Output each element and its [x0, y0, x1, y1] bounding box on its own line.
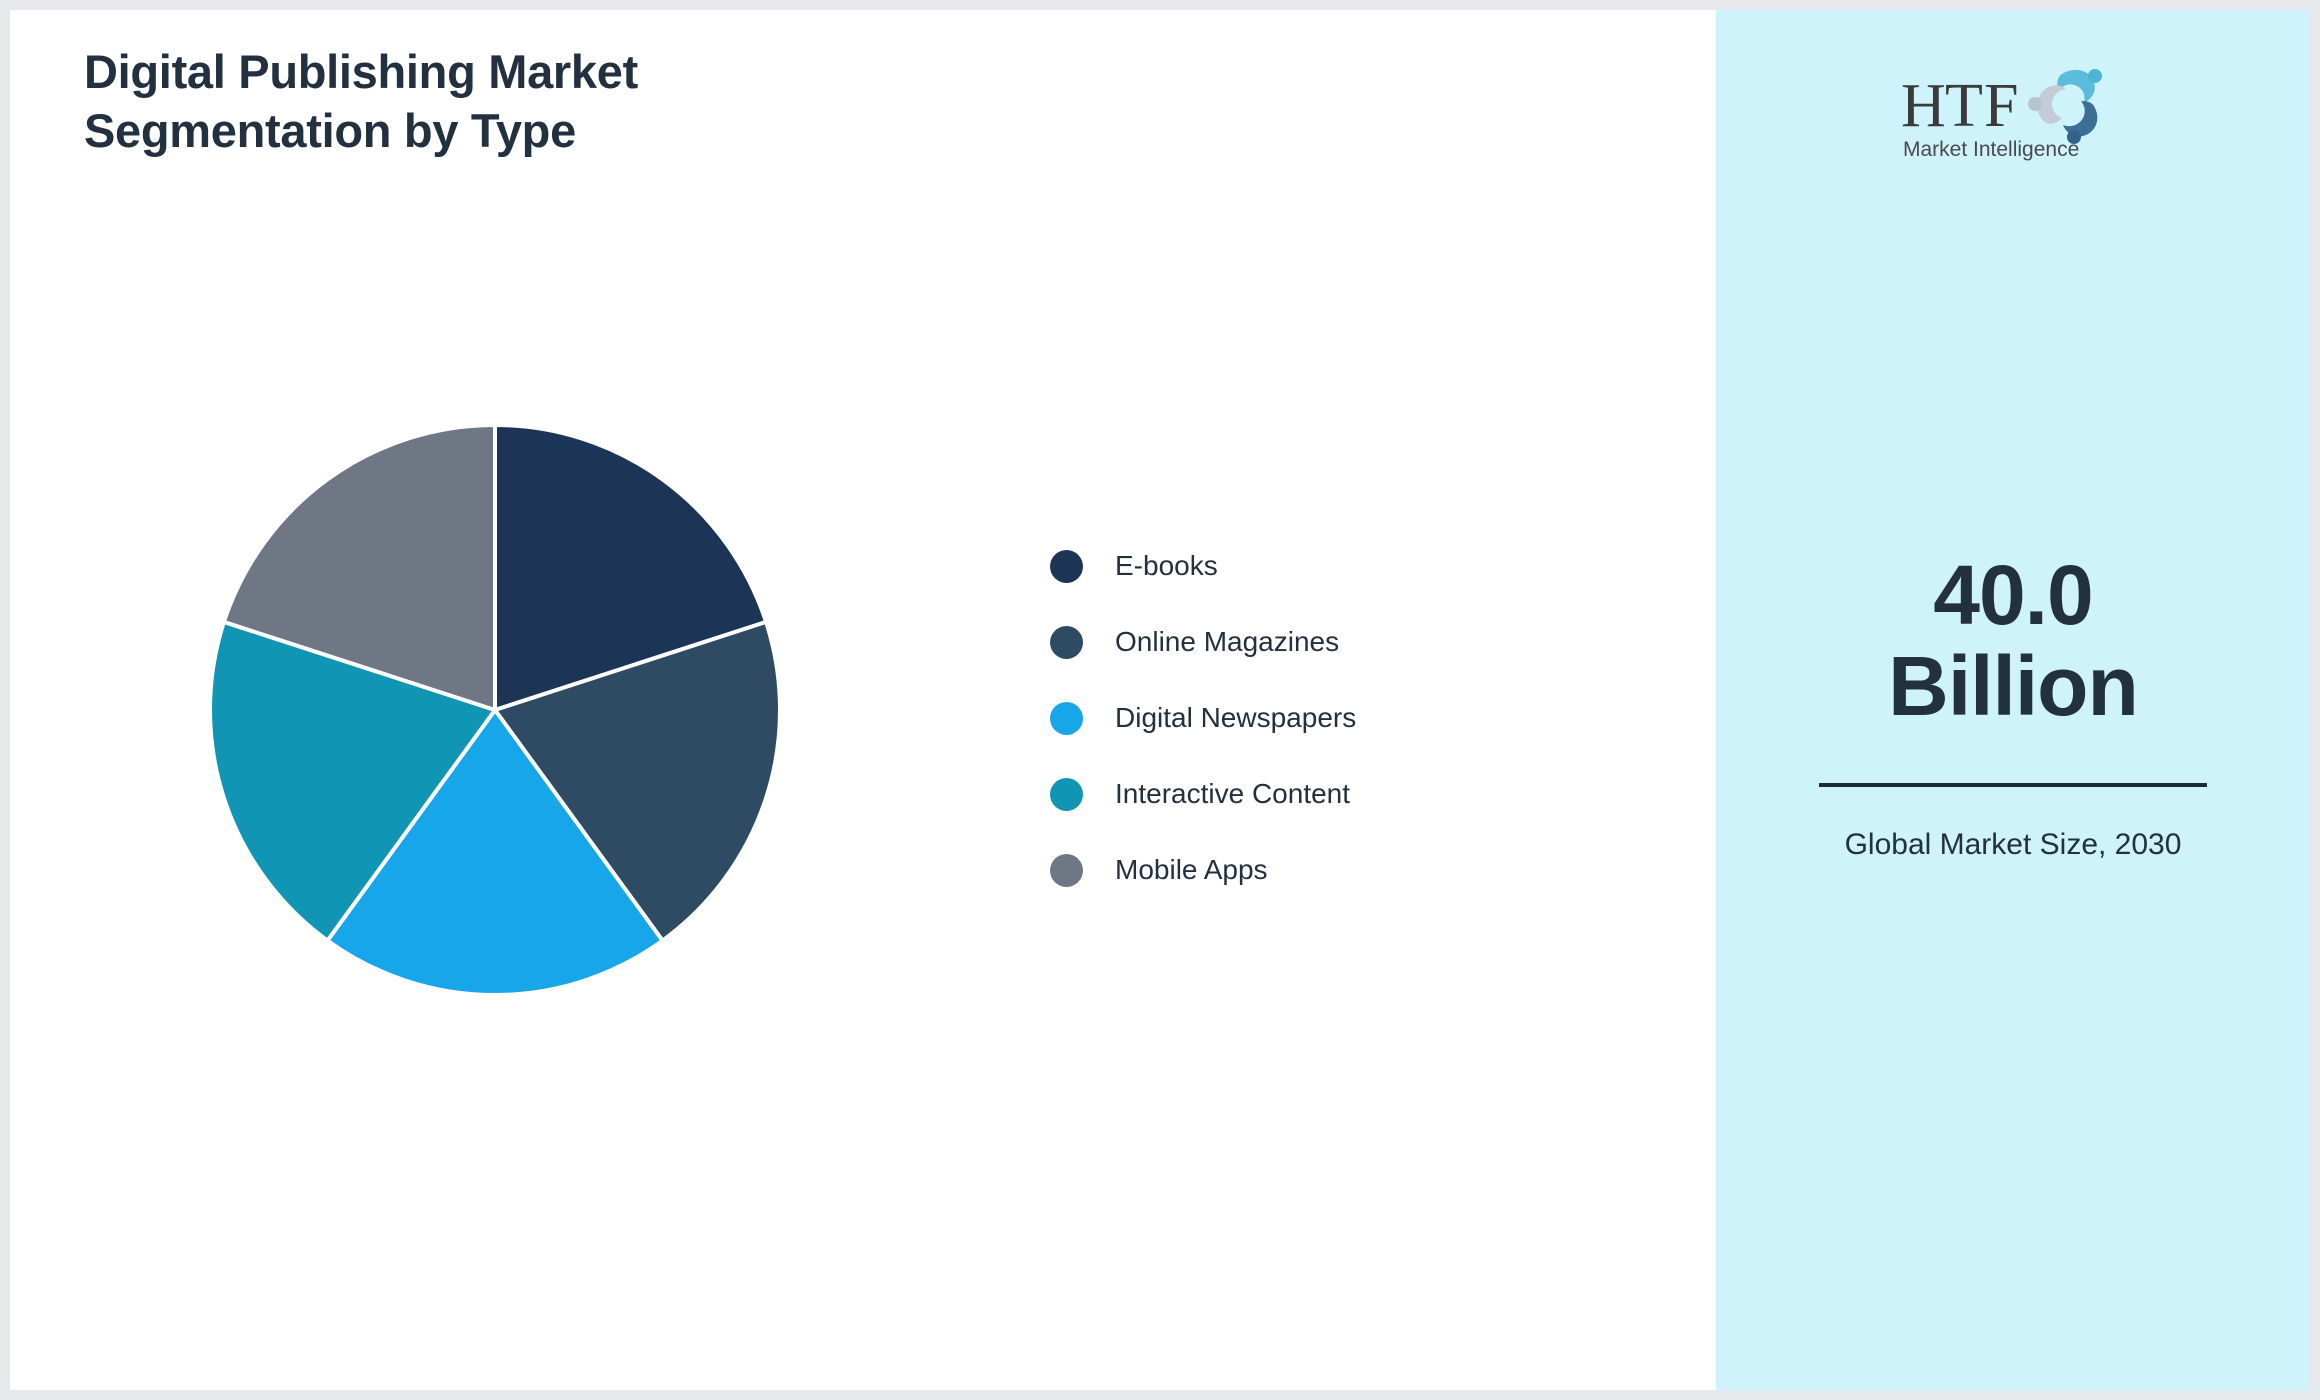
stat-divider [1819, 783, 2207, 787]
stat-panel: H T F Market Intell [1716, 10, 2310, 1390]
stat-value: 40.0 Billion [1778, 550, 2248, 731]
chart-legend: E-books Online Magazines Digital Newspap… [1050, 528, 1570, 908]
pie-slice-group [210, 425, 780, 995]
pie-chart-svg [205, 420, 785, 1000]
legend-swatch-icon [1050, 702, 1083, 735]
legend-swatch-icon [1050, 854, 1083, 887]
legend-item-online-magazines[interactable]: Online Magazines [1050, 604, 1570, 680]
svg-text:T: T [1945, 72, 1983, 140]
svg-text:F: F [1984, 72, 2018, 140]
chart-panel: Digital Publishing Market Segmentation b… [10, 10, 1716, 1390]
legend-item-interactive-content[interactable]: Interactive Content [1050, 756, 1570, 832]
stat-value-line-2: Billion [1888, 639, 2138, 733]
legend-swatch-icon [1050, 550, 1083, 583]
legend-swatch-icon [1050, 778, 1083, 811]
stat-caption: Global Market Size, 2030 [1803, 825, 2223, 864]
legend-label: Interactive Content [1115, 778, 1350, 810]
infographic-card: Digital Publishing Market Segmentation b… [10, 10, 2310, 1390]
svg-text:H: H [1901, 72, 1946, 140]
legend-item-mobile-apps[interactable]: Mobile Apps [1050, 832, 1570, 908]
chart-title-line-2: Segmentation by Type [84, 107, 1024, 154]
stat-block: 40.0 Billion Global Market Size, 2030 [1716, 550, 2310, 864]
pie-chart [205, 420, 785, 1000]
legend-label: Digital Newspapers [1115, 702, 1356, 734]
page-title: Digital Publishing Market Segmentation b… [84, 48, 1024, 166]
legend-item-e-books[interactable]: E-books [1050, 528, 1570, 604]
legend-item-digital-newspapers[interactable]: Digital Newspapers [1050, 680, 1570, 756]
brand-logo: H T F Market Intell [1716, 54, 2310, 164]
htf-market-intelligence-logo-icon: H T F Market Intell [1883, 54, 2143, 164]
legend-swatch-icon [1050, 626, 1083, 659]
stat-value-line-1: 40.0 [1933, 548, 2093, 642]
legend-label: E-books [1115, 550, 1218, 582]
legend-label: Online Magazines [1115, 626, 1339, 658]
brand-tagline: Market Intelligence [1903, 138, 2079, 161]
legend-label: Mobile Apps [1115, 854, 1268, 886]
chart-title-line-1: Digital Publishing Market [84, 48, 1024, 95]
